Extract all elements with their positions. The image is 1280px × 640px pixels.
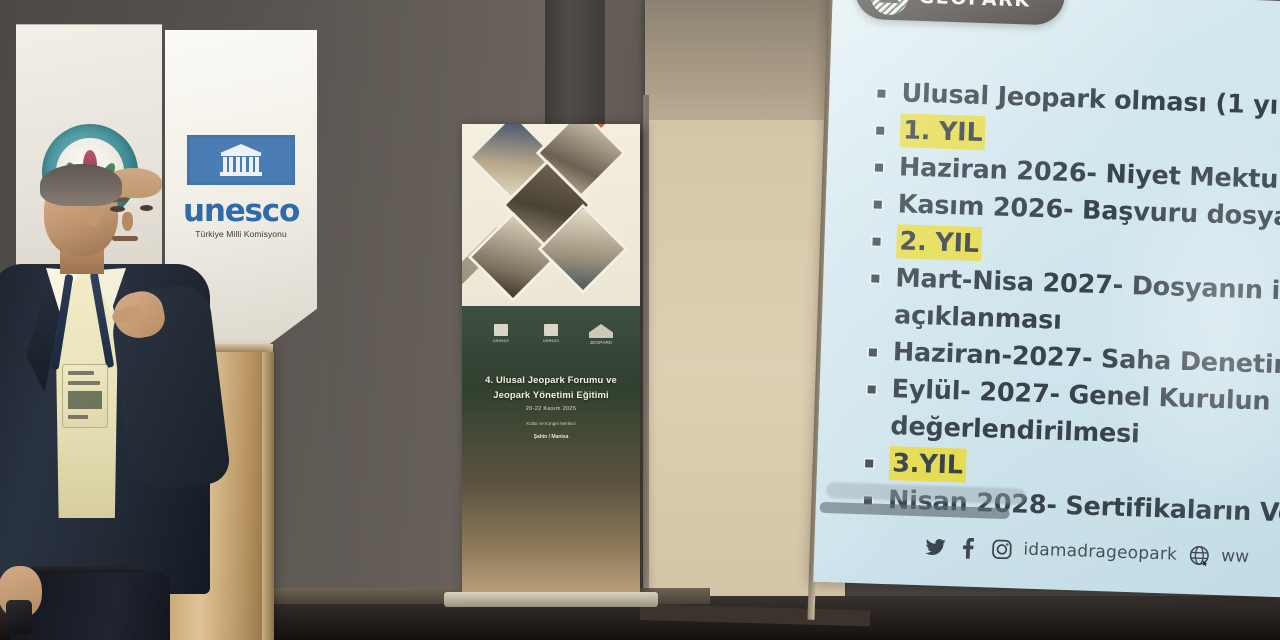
- name-badge: [62, 364, 108, 428]
- facebook-icon: [957, 536, 980, 559]
- projection-screen: GEOPARK Ulusal Jeopark olması (1 yıl 1. …: [813, 0, 1280, 597]
- rollup-jeopark-logo: JEOPARK: [584, 324, 618, 350]
- presentation-photo-scene: BANAZ BELEDİYESİ unesco Türkiye Milli Ko…: [0, 0, 1280, 640]
- bullet-square-icon: [865, 459, 873, 467]
- rollup-unesco-logo-1: unesco: [484, 324, 518, 350]
- rollup-title: 4. Ulusal Jeopark Forumu ve Jeopark Yöne…: [468, 372, 634, 402]
- speaker-ear: [88, 206, 101, 226]
- rollup-body: unesco unesco JEOPARK 4. Ulusal Jeopark …: [462, 306, 640, 594]
- bullet-square-icon: [869, 348, 877, 356]
- bullet-square-icon: [875, 163, 883, 171]
- rollup-banner-base: [444, 592, 658, 607]
- speaker-nose: [122, 212, 133, 231]
- presenter-remote: [6, 600, 32, 634]
- bullet-text-highlighted: 1. YIL: [900, 113, 986, 150]
- rollup-banner: unesco unesco JEOPARK 4. Ulusal Jeopark …: [462, 124, 640, 594]
- bullet-square-icon: [868, 385, 876, 393]
- geopark-logo-icon: [870, 0, 909, 16]
- bullet-text-highlighted: 2. YIL: [896, 224, 982, 261]
- rollup-city: Şahin / Manisa: [468, 434, 634, 440]
- bullet-text: açıklanması: [894, 298, 1063, 338]
- rollup-logo-label: unesco: [484, 338, 518, 343]
- bullet-text: değerlendirilmesi: [890, 409, 1140, 451]
- rollup-logo-row: unesco unesco JEOPARK: [476, 321, 626, 353]
- speaker-eye-right: [140, 205, 153, 211]
- instagram-icon: [990, 538, 1013, 561]
- bullet-square-icon: [877, 90, 885, 98]
- rollup-logo-label: JEOPARK: [584, 340, 618, 345]
- social-handle: idamadrageopark: [1023, 540, 1177, 565]
- slide-bullet-list: Ulusal Jeopark olması (1 yıl 1. YIL Hazi…: [863, 76, 1280, 535]
- wall-panel-shadow: [645, 0, 845, 120]
- podium-edge: [262, 352, 274, 640]
- slide-social-footer: idamadrageopark ww: [924, 535, 1280, 570]
- rollup-date: 20-22 Kasım 2025: [468, 406, 634, 412]
- speaker-mouth: [112, 236, 138, 241]
- globe-icon: [1188, 544, 1211, 567]
- geopark-badge-label: GEOPARK: [918, 0, 1031, 12]
- bullet-square-icon: [872, 237, 880, 245]
- bullet-square-icon: [874, 200, 882, 208]
- rollup-logo-label: unesco: [534, 338, 568, 343]
- unesco-temple-icon: [220, 144, 262, 176]
- speaker-eye-left: [110, 206, 125, 212]
- geopark-badge: GEOPARK: [854, 0, 1066, 26]
- website-text: ww: [1221, 546, 1250, 567]
- bullet-text-highlighted: 3.YIL: [889, 446, 967, 483]
- rollup-venue: Kültür ve Kongre Merkezi: [468, 420, 634, 427]
- speaker-hair: [40, 164, 122, 206]
- wall-panel-edge: [643, 95, 649, 620]
- rollup-unesco-logo-2: unesco: [534, 324, 568, 350]
- rollup-photo-collage: [462, 124, 640, 306]
- twitter-icon: [924, 535, 947, 558]
- bullet-square-icon: [876, 127, 884, 135]
- speaker: [0, 168, 222, 640]
- bullet-square-icon: [871, 274, 879, 282]
